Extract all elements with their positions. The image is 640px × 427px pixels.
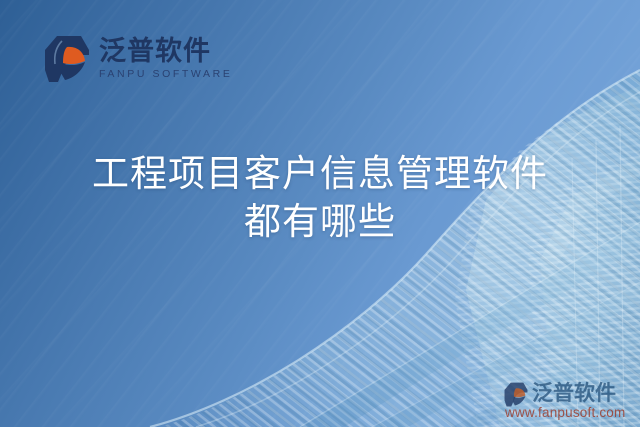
watermark-brand-name: 泛普软件: [532, 382, 616, 405]
curved-glass-canopy: [120, 50, 640, 427]
glass-tower-far: [440, 60, 640, 427]
watermark-fanpu-hexagon-logo-icon: [504, 381, 528, 406]
watermark-brand-row: 泛普软件: [504, 381, 634, 406]
promo-banner: 泛普软件 FANPU SOFTWARE 工程项目客户信息管理软件 都有哪些 泛普…: [0, 0, 640, 427]
brand-name-cn: 泛普软件: [99, 36, 232, 66]
headline-line-2: 都有哪些: [0, 198, 640, 246]
brand-logo: 泛普软件 FANPU SOFTWARE: [44, 33, 232, 85]
watermark: 泛普软件 www.fanpusoft.com: [504, 381, 634, 421]
headline-line-1: 工程项目客户信息管理软件: [0, 150, 640, 198]
brand-name-en: FANPU SOFTWARE: [99, 68, 232, 81]
fanpu-hexagon-logo-icon: [44, 33, 90, 85]
brand-logo-text: 泛普软件 FANPU SOFTWARE: [99, 33, 232, 81]
headline: 工程项目客户信息管理软件 都有哪些: [0, 150, 640, 246]
watermark-url: www.fanpusoft.com: [505, 405, 634, 421]
